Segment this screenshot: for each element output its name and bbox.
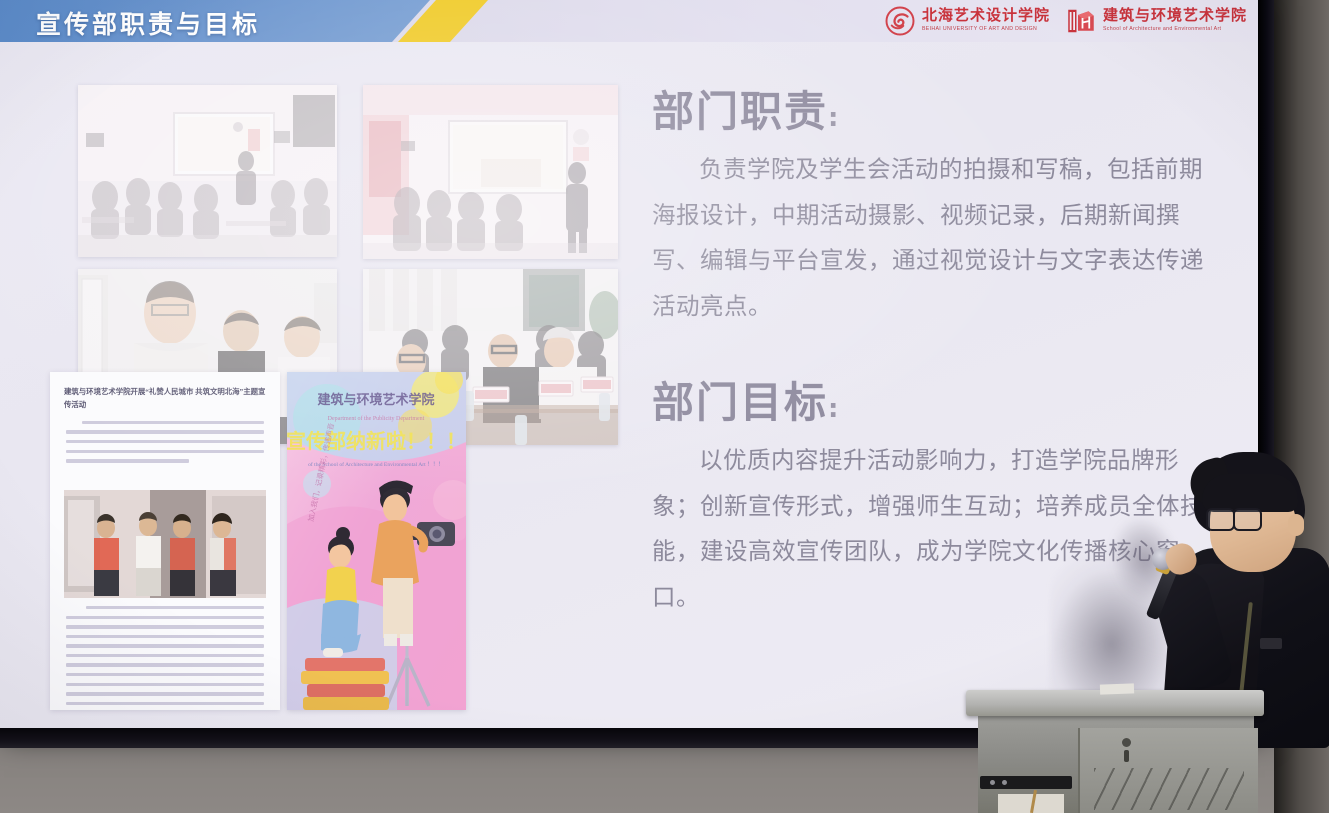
photograph-of-classroom-projection: 宣传部职责与目标 北海艺术设计学院 BEIHAI UNIVERSITY OF A… <box>0 0 1329 813</box>
poster-art: 建筑与环境艺术学院 Department of the Publicity De… <box>287 372 466 710</box>
university-name-cn: 北海艺术设计学院 <box>922 9 1050 24</box>
logo-group: 北海艺术设计学院 BEIHAI UNIVERSITY OF ART AND DE… <box>885 2 1247 40</box>
section-heading-goals-colon: : <box>828 394 840 424</box>
volunteer-photo-art <box>64 490 266 598</box>
glasses-icon <box>1206 508 1258 527</box>
building-monogram-logo-icon <box>1066 6 1096 36</box>
article-paragraph-top <box>66 421 264 463</box>
school-logo-text: 建筑与环境艺术学院 School of Architecture and Env… <box>1103 9 1247 32</box>
university-logo-text: 北海艺术设计学院 BEIHAI UNIVERSITY OF ART AND DE… <box>922 9 1050 32</box>
university-name-en: BEIHAI UNIVERSITY OF ART AND DESIGN <box>922 27 1050 32</box>
lectern-podium <box>966 690 1296 813</box>
podium-vent-slots <box>1094 768 1244 810</box>
svg-text:建筑与环境艺术学院: 建筑与环境艺术学院 <box>317 392 434 408</box>
svg-text:宣传部纳新啦！！！: 宣传部纳新啦！！！ <box>287 429 466 453</box>
section-heading-goals: 部门目标: <box>652 369 1212 430</box>
podium-handle <box>1124 750 1129 762</box>
slide-title: 宣传部职责与目标 <box>36 5 260 41</box>
classroom-lecture-photo-1 <box>78 85 337 257</box>
article-title: 建筑与环境艺术学院开展“礼赞人民城市 共筑文明北海”主题宣传活动 <box>64 386 266 412</box>
section-heading-duties-colon: : <box>828 103 840 133</box>
podium-indicator-led-1 <box>990 780 995 785</box>
section-body-duties: 负责学院及学生会活动的拍摄和写稿，包括前期海报设计，中期活动摄影、视频记录，后期… <box>652 147 1212 329</box>
university-logo: 北海艺术设计学院 BEIHAI UNIVERSITY OF ART AND DE… <box>885 6 1050 36</box>
photo-2-glare <box>363 85 618 259</box>
section-heading-goals-text: 部门目标 <box>652 378 828 427</box>
podium-paper-note <box>1100 683 1134 694</box>
svg-text:Department of the Publicity De: Department of the Publicity Department <box>328 415 425 422</box>
presenter-ear <box>1288 514 1304 536</box>
section-heading-duties: 部门职责: <box>652 78 1212 139</box>
school-name-cn: 建筑与环境艺术学院 <box>1103 9 1247 24</box>
section-heading-duties-text: 部门职责 <box>652 87 828 136</box>
section-spacer <box>652 329 1212 369</box>
presenter-fringe <box>1202 474 1298 512</box>
volunteer-students-photo <box>64 490 266 598</box>
svg-text:of the School of Architecture: of the School of Architecture and Enviro… <box>308 461 444 468</box>
school-name-en: School of Architecture and Environmental… <box>1103 27 1247 32</box>
classroom-lecture-photo-2 <box>363 85 618 259</box>
school-logo: 建筑与环境艺术学院 School of Architecture and Env… <box>1066 6 1247 36</box>
slide-header-band: 宣传部职责与目标 北海艺术设计学院 BEIHAI UNIVERSITY OF A… <box>0 0 1261 42</box>
podium-indicator-led-2 <box>1002 780 1007 785</box>
article-paragraph-bottom <box>66 606 264 710</box>
news-article-clipping: 建筑与环境艺术学院开展“礼赞人民城市 共筑文明北海”主题宣传活动 <box>50 372 280 710</box>
recruitment-poster: 建筑与环境艺术学院 Department of the Publicity De… <box>287 372 466 710</box>
photo-1-glare <box>78 85 337 257</box>
spiral-wave-logo-icon <box>885 6 915 36</box>
jacket-logo-patch <box>1260 638 1282 649</box>
podium-lock-knob <box>1122 738 1131 747</box>
